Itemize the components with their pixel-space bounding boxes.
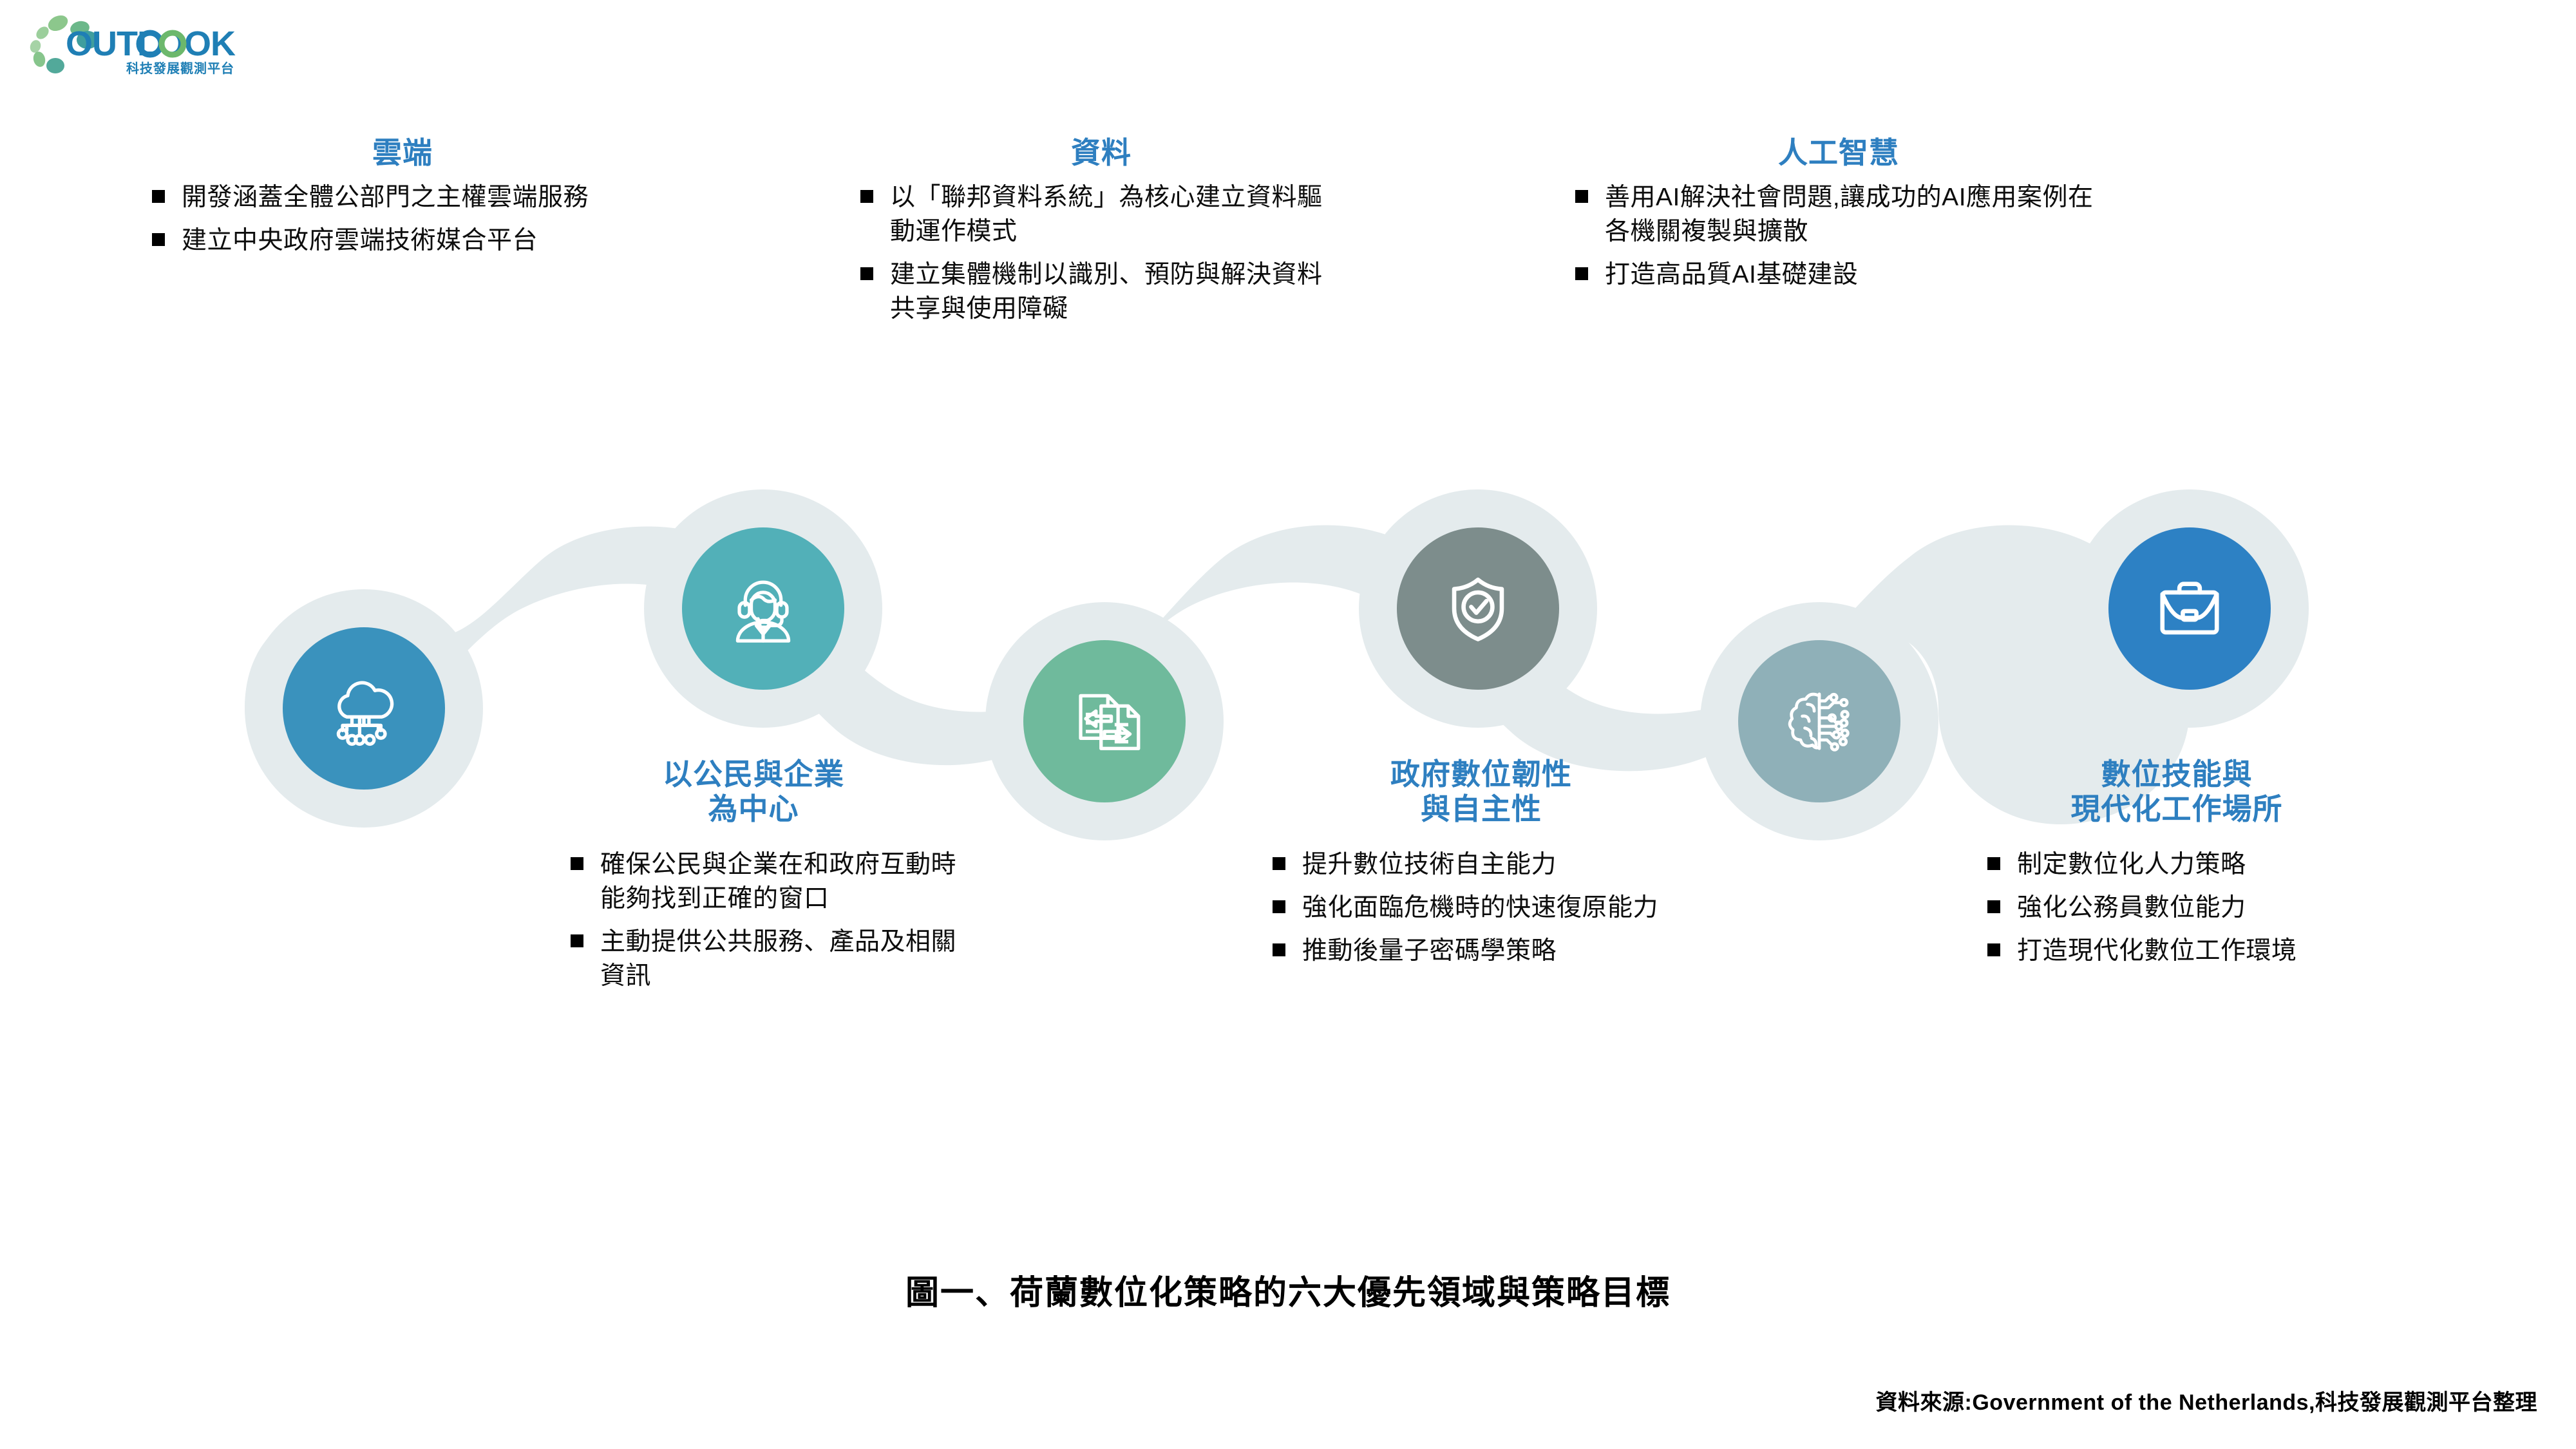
bullet-square-icon <box>571 934 583 947</box>
bullet-text: 提升數位技術自主能力 <box>1302 851 1557 878</box>
ai-brain-circuit-icon <box>1777 679 1862 764</box>
section-title-government-digital-resilience: 政府數位韌性 與自主性 <box>1262 757 1700 827</box>
section-title-artificial-intelligence: 人工智慧 <box>1571 135 2106 170</box>
bullet-text: 打造高品質AI基礎建設 <box>1605 261 1858 289</box>
node-disc <box>283 627 445 790</box>
bullet-list-data: 以「聯邦資料系統」為核心建立資料驅動運作模式 建立集體機制以識別、預防與解決資料… <box>857 180 1346 326</box>
source-note: 資料來源:Government of the Netherlands,科技發展觀… <box>1876 1385 2537 1416</box>
section-block-data: 資料 以「聯邦資料系統」為核心建立資料驅動運作模式 建立集體機制以識別、預防與解… <box>857 135 1346 335</box>
section-block-artificial-intelligence: 人工智慧 善用AI解決社會問題,讓成功的AI應用案例在各機關複製與擴散 打造高品… <box>1571 135 2106 301</box>
bullet-text: 推動後量子密碼學策略 <box>1302 937 1557 965</box>
bullet-square-icon <box>1273 857 1285 870</box>
section-title-cloud: 雲端 <box>148 135 657 170</box>
bullet-square-icon <box>860 267 873 280</box>
node-disc <box>682 527 844 690</box>
bullet-text: 制定數位化人力策略 <box>2017 851 2246 878</box>
node-disc <box>1397 527 1559 690</box>
list-item: 確保公民與企業在和政府互動時能夠找到正確的窗口 <box>567 848 972 916</box>
bullet-square-icon <box>1575 190 1588 203</box>
bullet-text: 開發涵蓋全體公部門之主權雲端服務 <box>182 184 589 211</box>
section-block-digital-skills-modern-workplace: 數位技能與 現代化工作場所 制定數位化人力策略 強化公務員數位能力 打造現代化數… <box>1945 757 2409 977</box>
node-disc <box>1738 640 1900 802</box>
section-title-citizen-business-centric: 以公民與企業 為中心 <box>535 757 972 827</box>
list-item: 主動提供公共服務、產品及相關資訊 <box>567 925 972 993</box>
bullet-list-government-digital-resilience: 提升數位技術自主能力 強化面臨危機時的快速復原能力 推動後量子密碼學策略 <box>1269 848 1700 968</box>
bullet-text: 建立集體機制以識別、預防與解決資料共享與使用障礙 <box>890 261 1323 323</box>
bullet-square-icon <box>860 190 873 203</box>
bullet-square-icon <box>1987 900 2000 913</box>
section-title-line-2: 與自主性 <box>1262 791 1700 826</box>
section-block-cloud: 雲端 開發涵蓋全體公部門之主權雲端服務 建立中央政府雲端技術媒合平台 <box>148 135 657 267</box>
list-item: 制定數位化人力策略 <box>1984 848 2409 882</box>
headset-support-icon <box>721 566 806 651</box>
list-item: 強化面臨危機時的快速復原能力 <box>1269 891 1700 925</box>
bullet-list-citizen-business-centric: 確保公民與企業在和政府互動時能夠找到正確的窗口 主動提供公共服務、產品及相關資訊 <box>567 848 972 993</box>
figure-caption: 圖一、荷蘭數位化策略的六大優先領域與策略目標 <box>0 1265 2576 1314</box>
list-item: 打造現代化數位工作環境 <box>1984 934 2409 968</box>
section-title-line-2: 為中心 <box>535 791 972 826</box>
list-item: 建立中央政府雲端技術媒合平台 <box>148 223 657 258</box>
bullet-square-icon <box>1273 900 1285 913</box>
bullet-list-cloud: 開發涵蓋全體公部門之主權雲端服務 建立中央政府雲端技術媒合平台 <box>148 180 657 258</box>
list-item: 建立集體機制以識別、預防與解決資料共享與使用障礙 <box>857 258 1346 326</box>
bullet-text: 打造現代化數位工作環境 <box>2017 937 2297 965</box>
section-block-government-digital-resilience: 政府數位韌性 與自主性 提升數位技術自主能力 強化面臨危機時的快速復原能力 推動… <box>1262 757 1700 977</box>
section-title-line-2: 現代化工作場所 <box>1945 791 2409 826</box>
list-item: 提升數位技術自主能力 <box>1269 848 1700 882</box>
bullet-text: 強化公務員數位能力 <box>2017 894 2246 922</box>
section-title-line-1: 政府數位韌性 <box>1262 757 1700 791</box>
bullet-text: 建立中央政府雲端技術媒合平台 <box>182 227 538 254</box>
bullet-square-icon <box>152 190 165 203</box>
logo-subtitle: 科技發展觀測平台 <box>126 61 234 76</box>
bullet-text: 以「聯邦資料系統」為核心建立資料驅動運作模式 <box>890 184 1323 245</box>
bullet-square-icon <box>1987 857 2000 870</box>
section-title-line-1: 數位技能與 <box>1945 757 2409 791</box>
section-title-line-1: 以公民與企業 <box>535 757 972 791</box>
bullet-square-icon <box>1987 943 2000 956</box>
bullet-square-icon <box>152 233 165 246</box>
data-exchange-icon <box>1062 679 1147 764</box>
section-title-data: 資料 <box>857 135 1346 170</box>
bullet-square-icon <box>1575 267 1588 280</box>
bullet-text: 主動提供公共服務、產品及相關資訊 <box>600 928 956 990</box>
list-item: 強化公務員數位能力 <box>1984 891 2409 925</box>
section-title-digital-skills-modern-workplace: 數位技能與 現代化工作場所 <box>1945 757 2409 827</box>
list-item: 以「聯邦資料系統」為核心建立資料驅動運作模式 <box>857 180 1346 249</box>
briefcase-icon <box>2147 566 2232 651</box>
list-item: 開發涵蓋全體公部門之主權雲端服務 <box>148 180 657 214</box>
section-block-citizen-business-centric: 以公民與企業 為中心 確保公民與企業在和政府互動時能夠找到正確的窗口 主動提供公… <box>535 757 972 1002</box>
list-item: 打造高品質AI基礎建設 <box>1571 258 2106 292</box>
bullet-text: 確保公民與企業在和政府互動時能夠找到正確的窗口 <box>600 851 956 913</box>
bullet-text: 善用AI解決社會問題,讓成功的AI應用案例在各機關複製與擴散 <box>1605 184 2094 245</box>
list-item: 推動後量子密碼學策略 <box>1269 934 1700 968</box>
bullet-list-artificial-intelligence: 善用AI解決社會問題,讓成功的AI應用案例在各機關複製與擴散 打造高品質AI基礎… <box>1571 180 2106 292</box>
bullet-square-icon <box>1273 943 1285 956</box>
bullet-text: 強化面臨危機時的快速復原能力 <box>1302 894 1658 922</box>
bullet-square-icon <box>571 857 583 870</box>
bullet-list-digital-skills-modern-workplace: 制定數位化人力策略 強化公務員數位能力 打造現代化數位工作環境 <box>1984 848 2409 968</box>
node-disc <box>2108 527 2271 690</box>
shield-check-icon <box>1435 566 1520 651</box>
list-item: 善用AI解決社會問題,讓成功的AI應用案例在各機關複製與擴散 <box>1571 180 2106 249</box>
outlook-logo: OUTLOOK 科技發展觀測平台 <box>18 9 276 86</box>
node-disc <box>1023 640 1186 802</box>
cloud-network-icon <box>321 666 406 751</box>
